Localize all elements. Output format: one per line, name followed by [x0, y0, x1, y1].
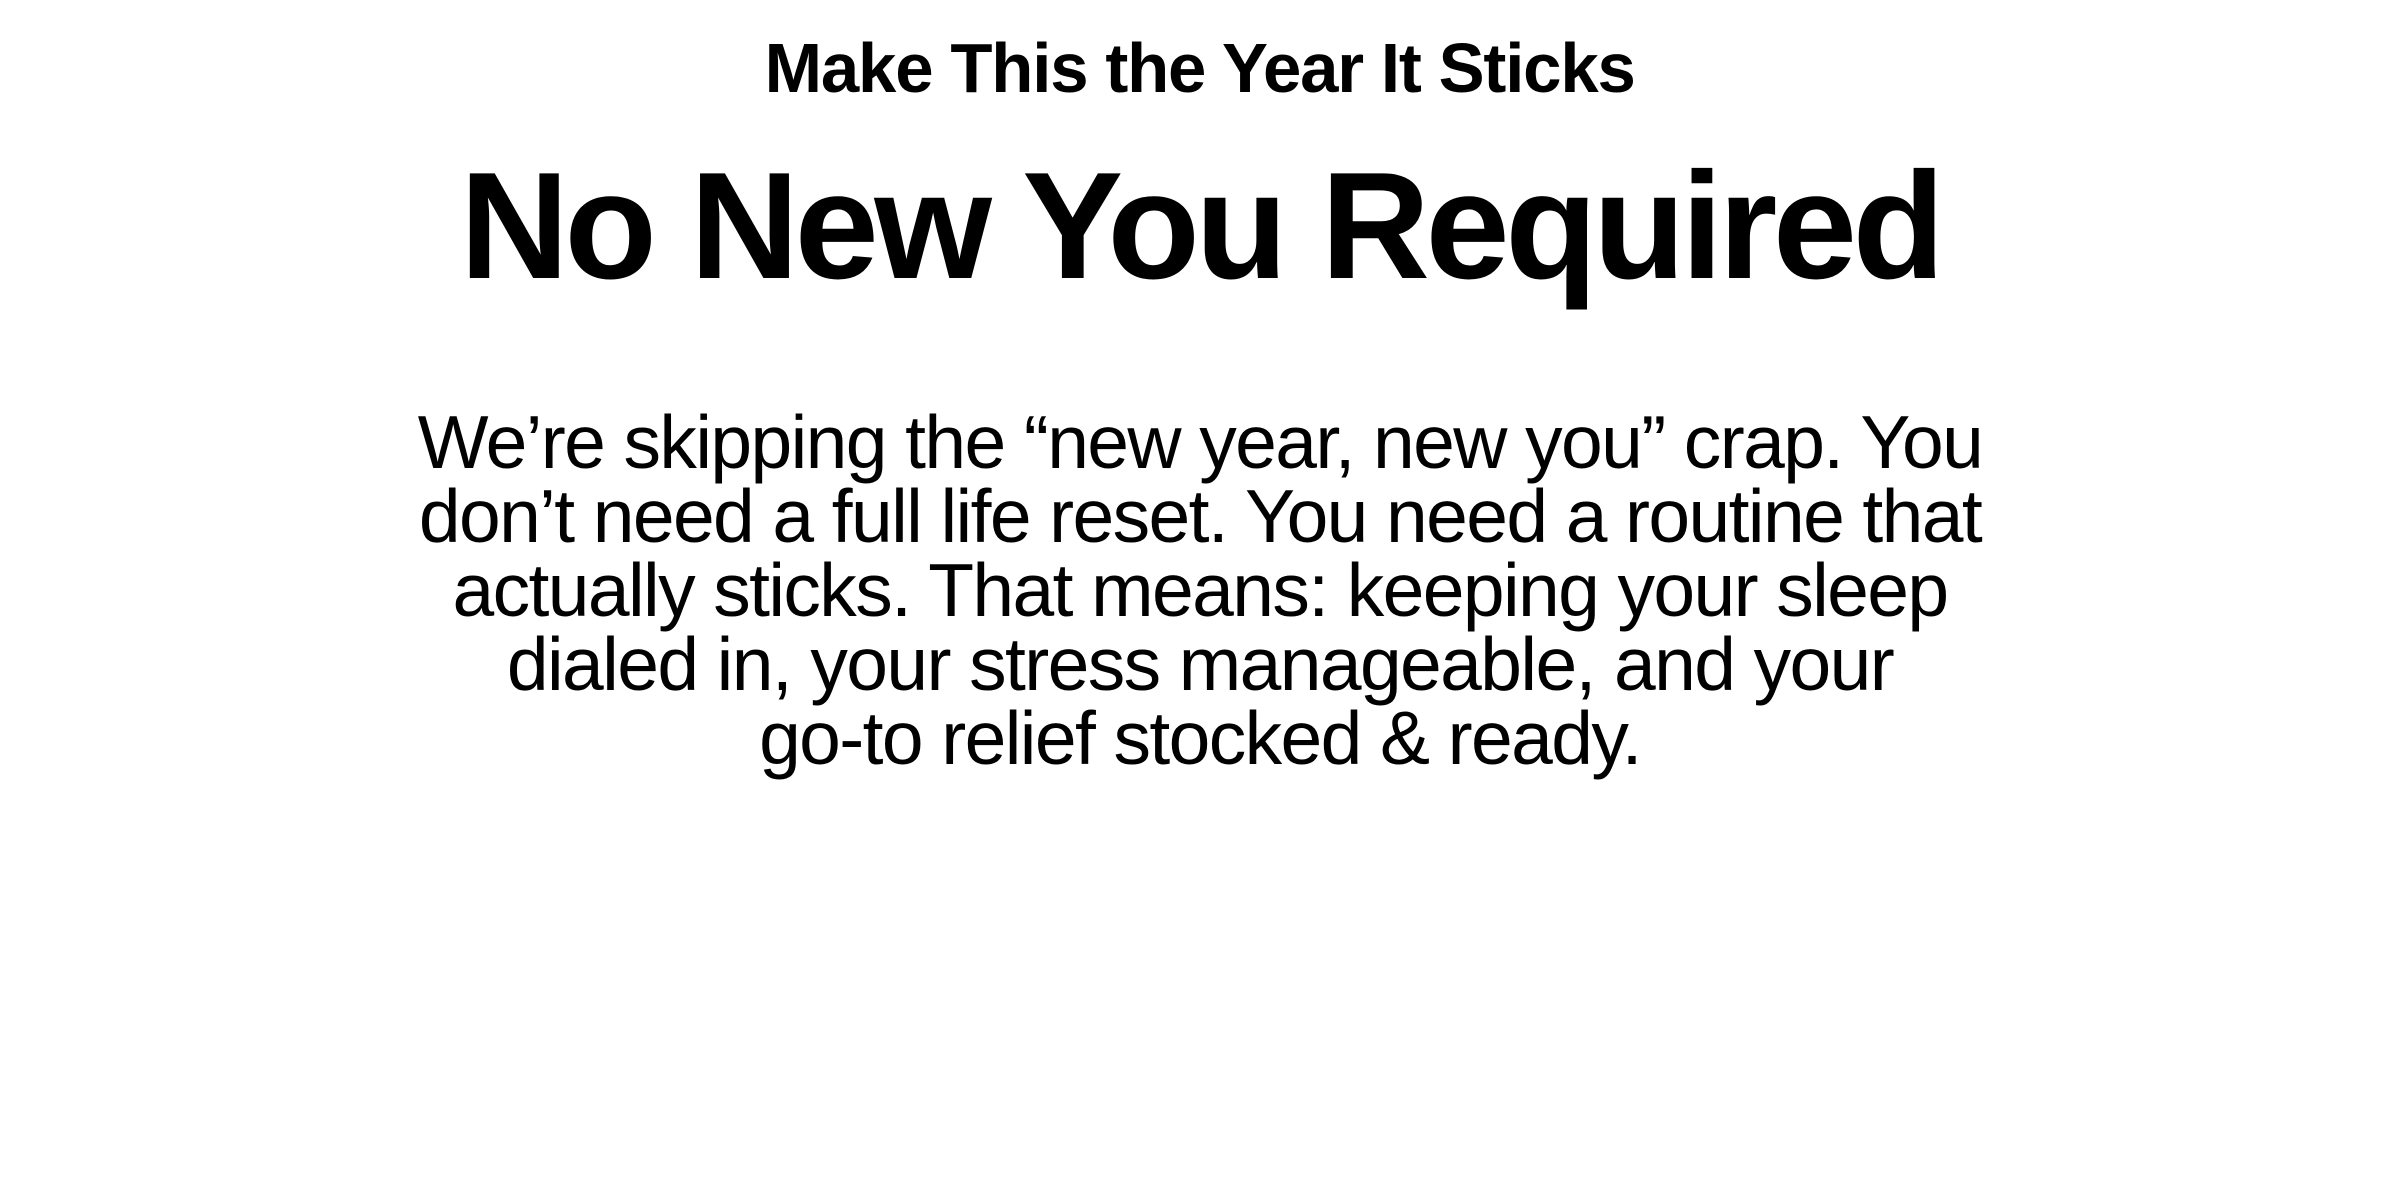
page-title: No New You Required — [460, 147, 1941, 305]
body-copy-line: don’t need a full life reset. You need a… — [418, 479, 1982, 553]
body-copy-line: dialed in, your stress manageable, and y… — [418, 627, 1982, 701]
body-copy-line: go-to relief stocked & ready. — [418, 701, 1982, 775]
body-copy-line: We’re skipping the “new year, new you” c… — [418, 405, 1982, 479]
promo-banner: Make This the Year It Sticks No New You … — [0, 0, 2400, 1186]
body-copy-line: actually sticks. That means: keeping you… — [418, 553, 1982, 627]
eyebrow-text: Make This the Year It Sticks — [765, 28, 1635, 109]
body-copy: We’re skipping the “new year, new you” c… — [418, 405, 1982, 775]
